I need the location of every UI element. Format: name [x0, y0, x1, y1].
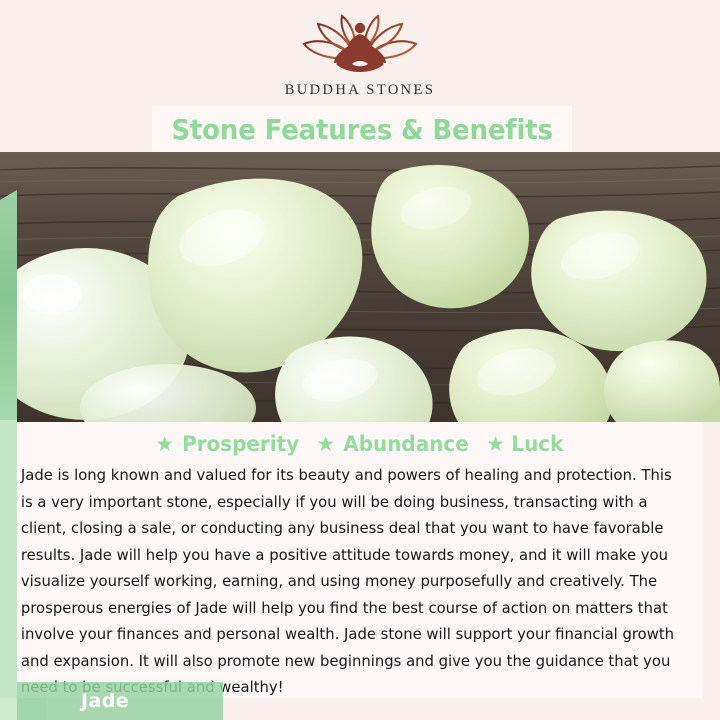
stone-description: Jade is long known and valued for its be… [17, 458, 690, 701]
left-green-accent-photo [0, 190, 17, 422]
stone-photo [0, 152, 720, 422]
stone-feature-card: BUDDHA STONES Stone Features & Benefits [0, 0, 720, 720]
title-banner: Stone Features & Benefits [152, 106, 572, 152]
stone-name-badge: Jade [17, 682, 223, 720]
stone-name-label: Jade [81, 690, 129, 712]
benefit-label: Abundance [343, 432, 468, 456]
description-card: ★ Prosperity ★ Abundance ★ Luck Jade is … [17, 422, 703, 698]
benefit-item-luck: ★ Luck [486, 432, 565, 456]
brand-logo: BUDDHA STONES [0, 14, 720, 99]
star-icon: ★ [316, 434, 335, 455]
benefits-row: ★ Prosperity ★ Abundance ★ Luck [17, 422, 703, 458]
benefit-label: Luck [511, 432, 563, 456]
left-green-accent-body [0, 420, 17, 700]
benefit-item-abundance: ★ Abundance [316, 432, 472, 456]
page-title: Stone Features & Benefits [171, 113, 552, 146]
star-icon: ★ [155, 434, 174, 455]
star-icon: ★ [486, 434, 505, 455]
lotus-meditation-icon [294, 14, 426, 80]
benefit-label: Prosperity [182, 432, 299, 456]
stone-photo-graphic [0, 152, 720, 422]
brand-name: BUDDHA STONES [285, 82, 436, 99]
benefit-item-prosperity: ★ Prosperity [155, 432, 302, 456]
